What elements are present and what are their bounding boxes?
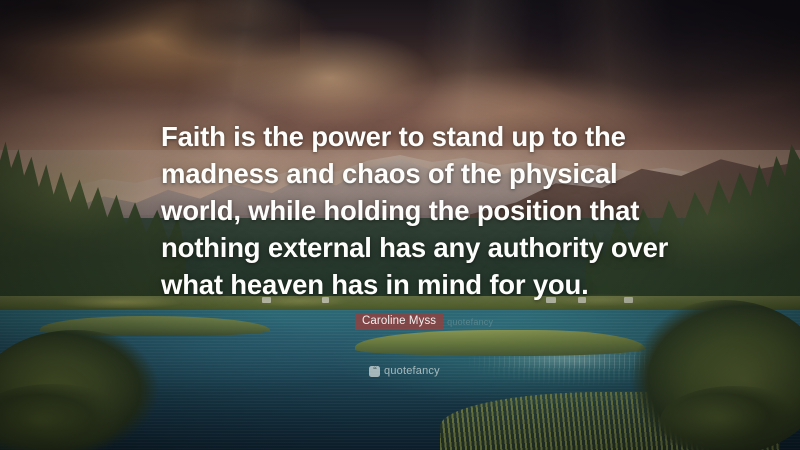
quote-line-2: madness and chaos of the physical (161, 155, 661, 192)
author-attribution: Caroline Myss quotefancy (355, 313, 493, 330)
quote-text: Faith is the power to stand up to the ma… (161, 118, 661, 303)
quote-line-5: what heaven has in mind for you. (161, 266, 661, 303)
quote-line-3: world, while holding the position that (161, 192, 661, 229)
grass-spit-mid (355, 330, 645, 356)
watermark: “ quotefancy (369, 365, 440, 377)
quote-poster: Faith is the power to stand up to the ma… (0, 0, 800, 450)
author-name: Caroline Myss (355, 313, 443, 330)
watermark-label: quotefancy (384, 365, 440, 377)
quote-line-1: Faith is the power to stand up to the (161, 118, 661, 155)
left-forest-highlight (0, 150, 185, 270)
quote-line-4: nothing external has any authority over (161, 229, 661, 266)
quotefancy-badge-icon: “ (369, 366, 380, 377)
foreground-bush-right-lower (660, 386, 800, 450)
author-ghost-text: quotefancy (447, 317, 493, 327)
